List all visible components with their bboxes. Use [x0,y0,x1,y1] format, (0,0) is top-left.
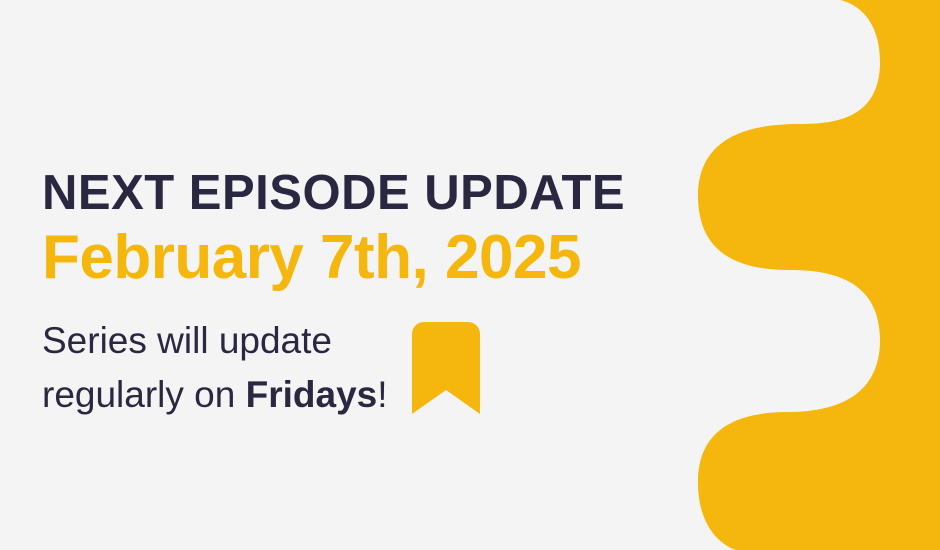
episode-date-heading: February 7th, 2025 [42,225,722,292]
bookmark-icon [412,322,480,414]
next-episode-update-banner: NEXT EPISODE UPDATE February 7th, 2025 S… [0,0,940,550]
subtitle-line-2-suffix: ! [377,374,387,415]
subtitle-line-2-strong: Fridays [246,374,378,415]
subtitle-line-1: Series will update [42,320,332,361]
subtitle-row: Series will updateregularly on Fridays! [42,314,722,422]
banner-text-block: NEXT EPISODE UPDATE February 7th, 2025 S… [42,168,722,422]
eyebrow-heading: NEXT EPISODE UPDATE [42,168,722,219]
subtitle-line-2-prefix: regularly on [42,374,246,415]
subtitle-text: Series will updateregularly on Fridays! [42,314,388,422]
